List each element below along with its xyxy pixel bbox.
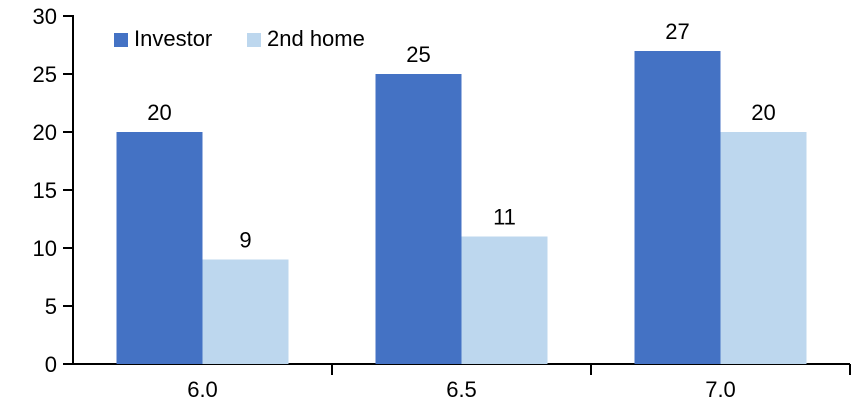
bar-value-label: 25 [406,42,430,67]
y-tick-label: 30 [33,4,57,29]
y-tick-label: 5 [45,294,57,319]
y-tick-label: 15 [33,178,57,203]
x-axis: 6.06.57.0 [73,364,850,402]
bar-chart: 051015202530 6.06.57.0 20925112720 Inves… [0,0,852,410]
bar-value-label: 20 [147,100,171,125]
legend-swatch-2nd-home [247,33,261,47]
x-tick-label: 7.0 [705,377,736,402]
bar-group [117,51,807,364]
bar-investor-6.5 [376,74,462,364]
y-tick-label: 25 [33,62,57,87]
bar-value-label: 9 [239,228,251,253]
bar-value-label: 27 [665,19,689,44]
bar-investor-7.0 [635,51,721,364]
chart-canvas: 051015202530 6.06.57.0 20925112720 Inves… [0,0,852,410]
y-tick-label: 0 [45,352,57,377]
y-tick-label: 10 [33,236,57,261]
bar-2nd-home-7.0 [721,132,807,364]
chart-legend: Investor2nd home [114,26,365,51]
legend-label-investor: Investor [134,26,212,51]
bar-2nd-home-6.0 [203,260,289,364]
x-tick-label: 6.5 [446,377,477,402]
bar-investor-6.0 [117,132,203,364]
legend-label-2nd-home: 2nd home [267,26,365,51]
bar-2nd-home-6.5 [462,236,548,364]
bar-value-label: 11 [493,204,516,229]
x-tick-label: 6.0 [187,377,218,402]
y-axis: 051015202530 [33,4,73,377]
y-tick-label: 20 [33,120,57,145]
legend-swatch-investor [114,33,128,47]
y-tick-group: 051015202530 [33,4,73,377]
x-tick-group: 6.06.57.0 [187,364,850,402]
bar-value-label: 20 [751,100,775,125]
